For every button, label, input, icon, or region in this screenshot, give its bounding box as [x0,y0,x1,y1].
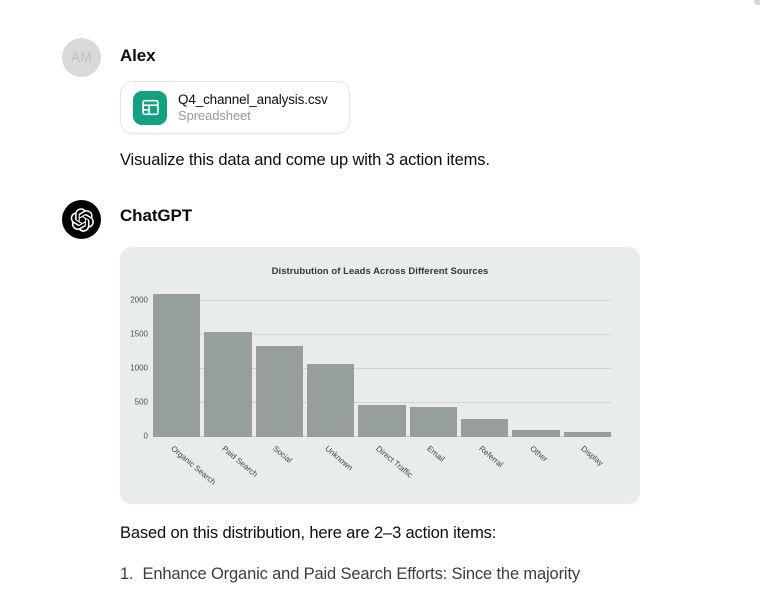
y-axis-tick-label: 1500 [130,329,148,338]
list-item-number: 1. [120,563,133,587]
x-label-slot: Direct Traffic [358,440,405,494]
assistant-name: ChatGPT [120,206,192,226]
scrollbar-nub[interactable] [754,0,760,5]
x-axis-tick-label: Paid Search [220,444,259,479]
y-axis-tick-label: 1000 [130,363,148,372]
action-items-list: 1.Enhance Organic and Paid Search Effort… [120,563,740,587]
bar-slot [410,294,457,437]
chart-title: Distrubution of Leads Across Different S… [120,266,640,277]
x-axis-tick-label: Social [272,444,294,465]
x-axis-tick-label: Direct Traffic [374,444,414,480]
x-label-slot: Display [564,440,611,494]
bar-slot [307,294,354,437]
spreadsheet-icon [133,91,167,125]
list-item: 1.Enhance Organic and Paid Search Effort… [120,563,740,587]
y-axis-tick-label: 0 [144,432,148,441]
x-label-slot: Unknown [307,440,354,494]
bar-slot [256,294,303,437]
chat-page: AM Alex Q4_channel_analysis.csv Spreadsh… [0,0,760,591]
bar-other[interactable] [512,430,559,437]
x-axis-tick-label: Referral [477,444,505,469]
file-meta: Q4_channel_analysis.csv Spreadsheet [178,92,328,123]
user-prompt-text: Visualize this data and come up with 3 a… [120,148,490,173]
chart-panel[interactable]: Distrubution of Leads Across Different S… [120,247,640,504]
avatar: AM [62,38,101,77]
bar-display[interactable] [564,432,611,437]
file-type: Spreadsheet [178,108,328,123]
file-name: Q4_channel_analysis.csv [178,92,328,107]
openai-logo-icon [62,200,101,239]
y-axis-tick-label: 2000 [130,295,148,304]
bar-direct-traffic[interactable] [358,405,405,437]
x-label-slot: Referral [461,440,508,494]
bar-series [153,294,611,437]
bar-social[interactable] [256,346,303,437]
bar-slot [204,294,251,437]
x-axis-tick-label: Unknown [323,444,354,472]
bar-email[interactable] [410,407,457,437]
x-axis-tick-label: Email [426,444,447,464]
bar-organic-search[interactable] [153,294,200,437]
bar-unknown[interactable] [307,364,354,437]
x-label-slot: Organic Search [153,440,200,494]
x-label-slot: Social [256,440,303,494]
x-label-slot: Paid Search [204,440,251,494]
x-axis-tick-label: Display [579,444,605,468]
x-axis-tick-label: Other [528,444,549,464]
x-label-slot: Email [410,440,457,494]
bar-referral[interactable] [461,419,508,437]
y-axis-tick-label: 500 [135,397,148,406]
chart-plot-area: 0500100015002000 [153,294,611,437]
assistant-intro-text: Based on this distribution, here are 2–3… [120,521,496,546]
user-name: Alex [120,46,156,66]
bar-slot [512,294,559,437]
list-item-text: Enhance Organic and Paid Search Efforts:… [142,563,580,587]
x-label-slot: Other [512,440,559,494]
bar-slot [564,294,611,437]
bar-slot [358,294,405,437]
bar-slot [461,294,508,437]
x-axis-labels: Organic SearchPaid SearchSocialUnknownDi… [153,440,611,494]
bar-paid-search[interactable] [204,332,251,437]
bar-slot [153,294,200,437]
file-attachment-card[interactable]: Q4_channel_analysis.csv Spreadsheet [120,81,350,134]
